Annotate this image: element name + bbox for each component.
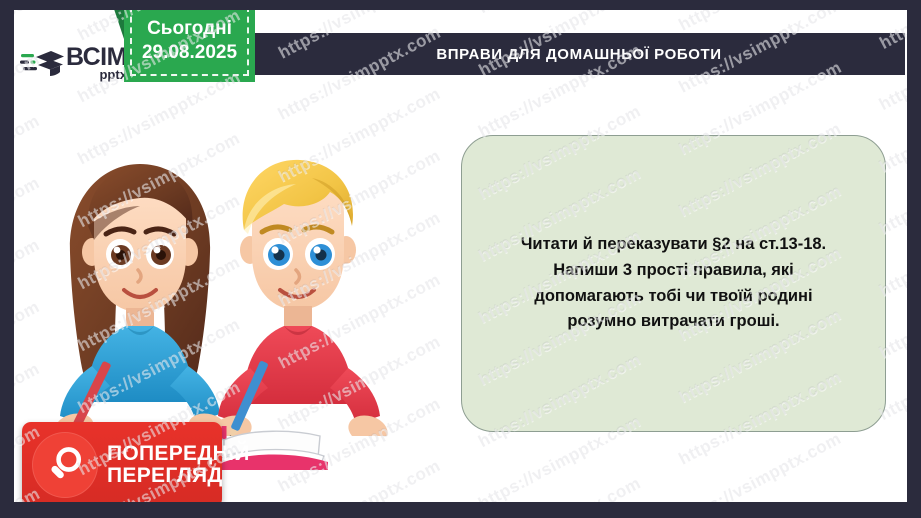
homework-task-text: Читати й переказувати §2 на ст.13-18. На… bbox=[521, 232, 826, 334]
date-badge: Сьогодні 29.08.2025 bbox=[124, 10, 255, 82]
page-title: ВПРАВИ ДЛЯ ДОМАШНЬОЇ РОБОТИ bbox=[436, 46, 721, 63]
date-badge-label: Сьогодні bbox=[147, 18, 232, 40]
header-bar: ВПРАВИ ДЛЯ ДОМАШНЬОЇ РОБОТИ bbox=[253, 33, 905, 75]
brand-logo[interactable]: ВСІМ pptx bbox=[20, 36, 136, 90]
slide-frame: ВПРАВИ ДЛЯ ДОМАШНЬОЇ РОБОТИ Читати й пер… bbox=[0, 0, 921, 518]
two-children-writing-illustration bbox=[28, 140, 448, 470]
magnifier-icon bbox=[32, 432, 98, 498]
preview-button[interactable]: ПОПЕРЕДНІЙ ПЕРЕГЛЯД bbox=[22, 422, 222, 502]
girl-figure bbox=[51, 164, 231, 447]
preview-label-line2: ПЕРЕГЛЯД bbox=[107, 465, 250, 487]
homework-task-box: Читати й переказувати §2 на ст.13-18. На… bbox=[461, 135, 886, 432]
preview-button-labels: ПОПЕРЕДНІЙ ПЕРЕГЛЯД bbox=[107, 443, 250, 487]
boy-figure bbox=[209, 160, 391, 449]
preview-label-line1: ПОПЕРЕДНІЙ bbox=[107, 443, 250, 465]
date-badge-wrapper: Сьогодні 29.08.2025 bbox=[124, 10, 255, 82]
date-badge-date: 29.08.2025 bbox=[142, 42, 237, 64]
slide-canvas: ВПРАВИ ДЛЯ ДОМАШНЬОЇ РОБОТИ Читати й пер… bbox=[14, 10, 907, 502]
date-badge-fold bbox=[111, 10, 125, 42]
logo-text: ВСІМ pptx bbox=[66, 45, 127, 81]
graduation-cap-icon bbox=[20, 43, 64, 83]
